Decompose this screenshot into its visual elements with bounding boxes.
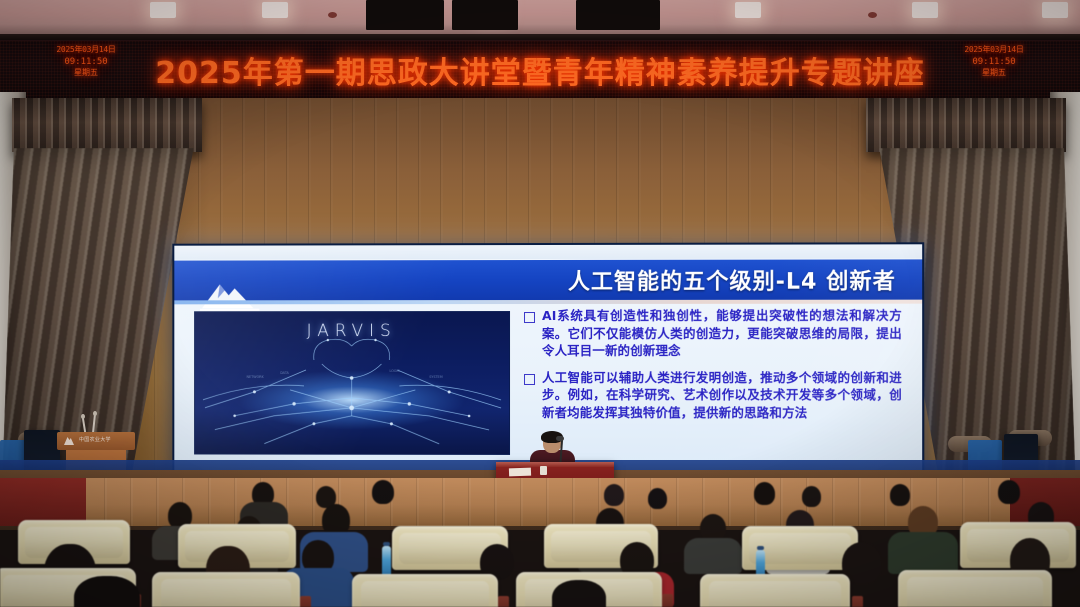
led-banner: 2025年03月14日 09:11:50 星期五 2025年第一期思政大讲堂暨青… — [0, 40, 1080, 101]
water-bottle-cap — [383, 542, 390, 546]
slide-bullet-item: 人工智能可以辅助人类进行发明创造，推动多个领域的创新和进步。例如，在科学研究、艺… — [524, 368, 902, 421]
audience-head — [648, 488, 667, 509]
audience-head — [998, 480, 1020, 504]
ceiling-light — [262, 2, 288, 18]
audience-head — [372, 480, 394, 504]
audience-head-foreground — [552, 580, 606, 607]
seat-leg — [662, 594, 673, 607]
led-clock-right: 2025年03月14日 09:11:50 星期五 — [946, 45, 1042, 79]
svg-text:NETWORK: NETWORK — [247, 375, 265, 379]
led-weekday-right: 星期五 — [946, 68, 1042, 79]
table-paper — [509, 468, 531, 477]
seat-leg — [300, 596, 311, 607]
ceiling-equipment-box — [576, 0, 660, 30]
mountain-logo-icon — [196, 278, 269, 312]
bullet-text: 人工智能可以辅助人类进行发明创造，推动多个领域的创新和进步。例如，在科学研究、艺… — [542, 368, 902, 421]
led-date-right: 2025年03月14日 — [946, 45, 1042, 56]
audience-torso-green-jacket — [888, 532, 958, 574]
audience-head — [604, 484, 624, 506]
audience-head — [754, 482, 775, 505]
audience-torso — [684, 538, 742, 574]
ceiling-equipment-box — [366, 0, 444, 30]
slide-title-bar: 人工智能的五个级别-L4 创新者 — [174, 259, 922, 300]
ceiling-spot — [328, 12, 337, 18]
led-time-right: 09:11:50 — [946, 56, 1042, 68]
led-time-left: 09:11:50 — [38, 56, 134, 68]
slide-top-strip — [174, 244, 922, 259]
led-date-left: 2025年03月14日 — [38, 45, 134, 56]
jarvis-caption: JARVIS — [195, 321, 509, 341]
slide-bullet-list: AI系统具有创造性和独创性，能够提出突破性的想法和解决方案。它们不仅能模仿人类的… — [524, 307, 902, 431]
podium-microphone-head — [81, 414, 85, 419]
ceiling-light — [150, 2, 176, 18]
audience-area — [0, 480, 1080, 607]
slide-title: 人工智能的五个级别-L4 创新者 — [568, 263, 896, 296]
svg-text:SYSTEM: SYSTEM — [429, 375, 443, 379]
audience-head — [802, 486, 821, 507]
slide-bullet-item: AI系统具有创造性和独创性，能够提出突破性的想法和解决方案。它们不仅能模仿人类的… — [524, 307, 902, 360]
auditorium-seat[interactable] — [898, 570, 1052, 607]
audience-head — [890, 484, 910, 506]
ceiling-equipment-box — [452, 0, 518, 30]
led-weekday-left: 星期五 — [38, 68, 134, 79]
podium-top: 中国农业大学 — [57, 432, 135, 450]
seat-leg — [498, 596, 509, 607]
podium-mountain-logo-icon — [63, 435, 75, 446]
slide-image-jarvis: NETWORKSYSTEM DATALOGIC JARVIS — [194, 311, 510, 455]
bullet-square-icon — [524, 312, 535, 323]
ceiling-light — [912, 2, 938, 18]
ceiling — [0, 0, 1080, 40]
lecture-hall-photo: 2025年03月14日 09:11:50 星期五 2025年第一期思政大讲堂暨青… — [0, 0, 1080, 607]
curtain-valance-right — [866, 98, 1066, 152]
bullet-square-icon — [524, 373, 535, 384]
svg-text:DATA: DATA — [280, 371, 289, 375]
podium-label: 中国农业大学 — [79, 436, 111, 443]
presenter-microphone-head — [556, 436, 564, 441]
audience-head-foreground — [74, 576, 140, 607]
ceiling-spot — [868, 12, 877, 18]
led-clock-left: 2025年03月14日 09:11:50 星期五 — [38, 45, 134, 79]
podium-microphone-head — [93, 411, 97, 416]
svg-text:LOGIC: LOGIC — [389, 369, 400, 373]
led-banner-title: 2025年第一期思政大讲堂暨青年精神素养提升专题讲座 — [135, 48, 945, 92]
ceiling-light — [735, 2, 761, 18]
curtain-valance-left — [12, 98, 202, 152]
bullet-text: AI系统具有创造性和独创性，能够提出突破性的想法和解决方案。它们不仅能模仿人类的… — [542, 307, 902, 360]
water-bottle — [382, 546, 391, 576]
auditorium-seat[interactable] — [352, 574, 498, 607]
table-cup — [540, 466, 547, 475]
ceiling-light — [1042, 2, 1068, 18]
seat-leg — [852, 596, 863, 607]
auditorium-seat[interactable] — [152, 572, 300, 607]
auditorium-seat[interactable] — [700, 574, 850, 607]
table-edge — [496, 462, 614, 467]
water-bottle-cap — [757, 546, 764, 550]
slide-title-underline — [174, 300, 922, 305]
